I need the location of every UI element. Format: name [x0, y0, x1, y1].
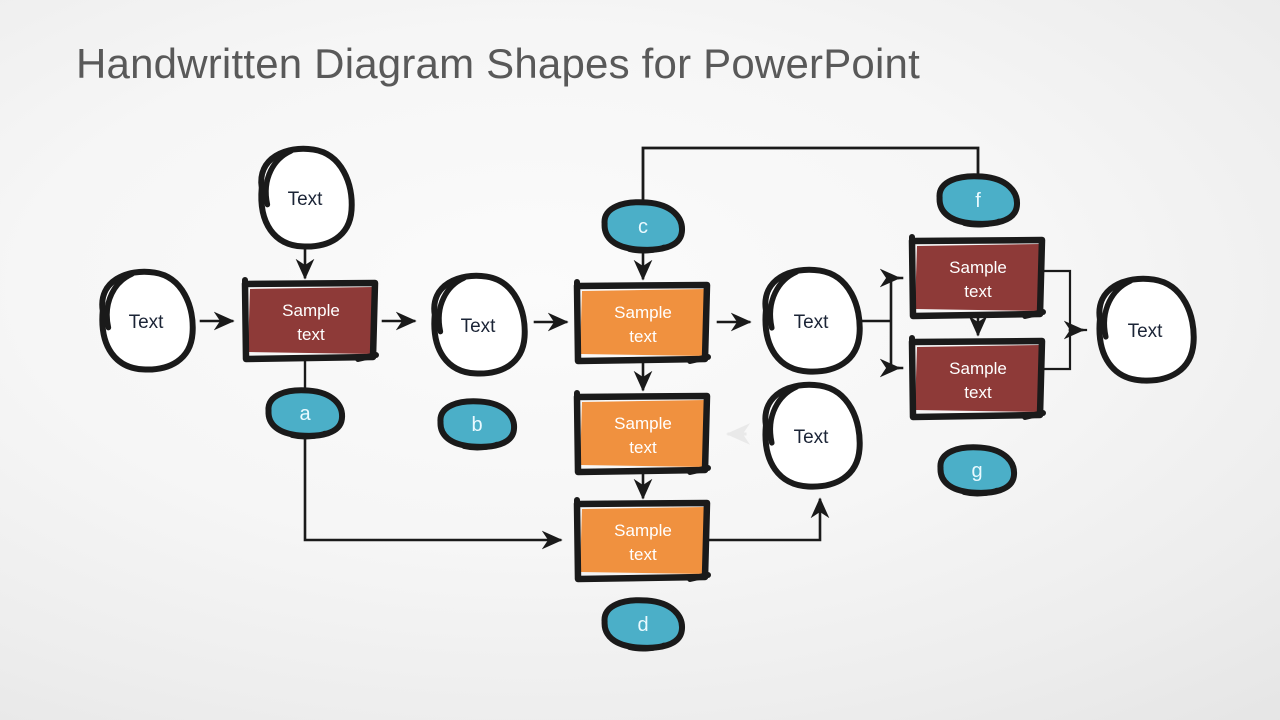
circle-label: Text	[794, 427, 830, 448]
box-label-line1: Sample	[949, 359, 1007, 378]
path-orange3-to-circle5	[710, 500, 820, 540]
circle-3[interactable]: Text	[434, 276, 524, 374]
circle-6[interactable]: Text	[1099, 279, 1193, 381]
box-corner-tick	[358, 355, 376, 359]
slide-canvas: Handwritten Diagram Shapes for PowerPoin…	[0, 0, 1280, 720]
circle-label: Text	[1128, 321, 1164, 342]
box-label-line2: text	[964, 282, 992, 301]
badge-b[interactable]: b	[440, 401, 514, 448]
badge-g[interactable]: g	[940, 447, 1014, 494]
box-label-line1: Sample	[614, 521, 672, 540]
circle-label: Text	[288, 189, 324, 210]
box-label-line1: Sample	[614, 303, 672, 322]
circle-label: Text	[129, 312, 165, 333]
circle-label: Text	[461, 316, 497, 337]
box-label-line2: text	[297, 325, 325, 344]
box-label-line1: Sample	[949, 258, 1007, 277]
badge-d[interactable]: d	[605, 600, 683, 649]
box-red-1[interactable]: Sampletext	[245, 280, 376, 359]
badge-a[interactable]: a	[268, 390, 342, 437]
path-badge-a-to-orange3	[305, 433, 560, 540]
box-corner-tick	[690, 575, 708, 579]
box-orange-1[interactable]: Sampletext	[577, 282, 708, 361]
diagram-svg: SampletextSampletextSampletextSampletext…	[0, 0, 1280, 720]
badge-label: a	[299, 403, 311, 425]
path-red2-red3-merge-to-circle6	[1044, 271, 1086, 369]
box-corner-tick	[690, 468, 708, 472]
path-circle4-split-to-red2-red3	[862, 278, 902, 368]
box-corner-tick	[690, 357, 708, 361]
box-orange-2[interactable]: Sampletext	[577, 393, 708, 472]
badge-c[interactable]: c	[605, 202, 683, 251]
box-corner-tick	[1025, 413, 1043, 417]
circle-label: Text	[794, 312, 830, 333]
box-label-line2: text	[629, 545, 657, 564]
box-label-line2: text	[964, 383, 992, 402]
box-orange-3[interactable]: Sampletext	[577, 500, 708, 579]
box-label-line2: text	[629, 438, 657, 457]
box-corner-tick	[1025, 312, 1043, 316]
box-red-2[interactable]: Sampletext	[912, 237, 1043, 316]
badge-label: f	[975, 190, 981, 212]
box-group: SampletextSampletextSampletextSampletext…	[245, 237, 1043, 579]
badge-label: d	[637, 614, 648, 636]
box-label-line1: Sample	[282, 301, 340, 320]
badge-f[interactable]: f	[940, 176, 1018, 225]
box-label-line2: text	[629, 327, 657, 346]
badge-label: b	[471, 414, 482, 436]
badge-label: g	[971, 460, 982, 482]
box-label-line1: Sample	[614, 414, 672, 433]
line-badge-c-top-to-badge-f	[643, 148, 978, 205]
circle-2[interactable]: Text	[261, 149, 351, 247]
badge-label: c	[638, 216, 648, 238]
circle-1[interactable]: Text	[102, 272, 192, 370]
circle-5[interactable]: Text	[765, 385, 859, 487]
box-red-3[interactable]: Sampletext	[912, 338, 1043, 417]
circle-4[interactable]: Text	[765, 270, 859, 372]
